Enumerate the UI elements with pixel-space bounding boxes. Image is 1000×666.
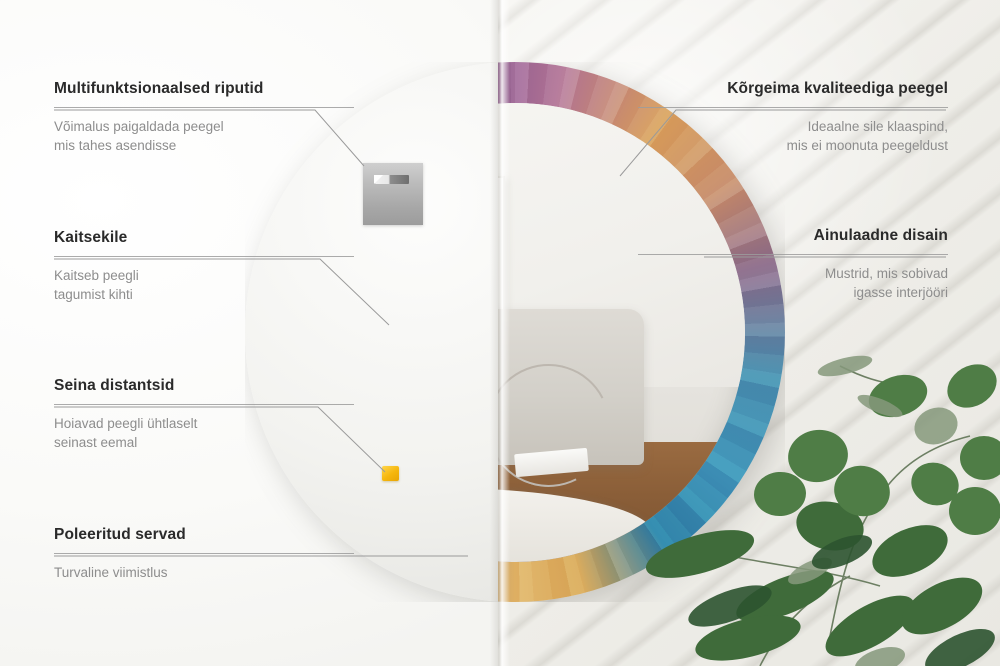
callout-quality-mirror-desc-line2: mis ei moonuta peegeldust: [787, 138, 948, 153]
callout-quality-mirror-title: Kõrgeima kvaliteediga peegel: [638, 80, 948, 98]
callout-quality-mirror-desc-line1: Ideaalne sile klaaspind,: [808, 119, 948, 134]
callout-unique-design-rule: [638, 254, 948, 255]
callout-hangers-desc-line2: mis tahes asendisse: [54, 138, 176, 153]
callout-quality-mirror-desc: Ideaalne sile klaaspind, mis ei moonuta …: [638, 117, 948, 155]
callout-protective-film-rule: [54, 256, 354, 257]
callout-polished-edges-desc: Turvaline viimistlus: [54, 563, 354, 582]
callout-unique-design-desc-line1: Mustrid, mis sobivad: [825, 266, 948, 281]
callout-polished-edges-rule: [54, 553, 354, 554]
callout-protective-film: Kaitsekile Kaitseb peegli tagumist kihti: [54, 229, 354, 304]
callout-polished-edges-desc-line1: Turvaline viimistlus: [54, 565, 168, 580]
callout-quality-mirror: Kõrgeima kvaliteediga peegel Ideaalne si…: [638, 80, 948, 155]
callout-wall-spacers-title: Seina distantsid: [54, 377, 354, 395]
callout-wall-spacers-desc-line2: seinast eemal: [54, 435, 137, 450]
callout-protective-film-desc: Kaitseb peegli tagumist kihti: [54, 266, 354, 304]
callout-unique-design-desc: Mustrid, mis sobivad igasse interjööri: [638, 264, 948, 302]
callout-protective-film-desc-line2: tagumist kihti: [54, 287, 133, 302]
callout-quality-mirror-rule: [638, 107, 948, 108]
callout-unique-design-title: Ainulaadne disain: [638, 227, 948, 245]
callout-hangers: Multifunktsionaalsed riputid Võimalus pa…: [54, 80, 354, 155]
callout-unique-design-desc-line2: igasse interjööri: [853, 285, 948, 300]
callout-unique-design: Ainulaadne disain Mustrid, mis sobivad i…: [638, 227, 948, 302]
hanger-slot: [375, 175, 409, 184]
callout-wall-spacers-desc: Hoiavad peegli ühtlaselt seinast eemal: [54, 414, 354, 452]
callout-hangers-rule: [54, 107, 354, 108]
callout-hangers-desc: Võimalus paigaldada peegel mis tahes ase…: [54, 117, 354, 155]
callout-hangers-desc-line1: Võimalus paigaldada peegel: [54, 119, 224, 134]
callout-polished-edges: Poleeritud servad Turvaline viimistlus: [54, 526, 354, 582]
hanger-plate-icon: [363, 163, 423, 225]
wall-spacer-icon: [382, 466, 399, 481]
callout-polished-edges-title: Poleeritud servad: [54, 526, 354, 544]
callout-protective-film-title: Kaitsekile: [54, 229, 354, 247]
foliage-icon: [580, 306, 1000, 666]
callout-protective-film-desc-line1: Kaitseb peegli: [54, 268, 139, 283]
callout-wall-spacers-rule: [54, 404, 354, 405]
callout-hangers-title: Multifunktsionaalsed riputid: [54, 80, 354, 98]
infographic-page: Multifunktsionaalsed riputid Võimalus pa…: [0, 0, 1000, 666]
callout-wall-spacers: Seina distantsid Hoiavad peegli ühtlasel…: [54, 377, 354, 452]
callout-wall-spacers-desc-line1: Hoiavad peegli ühtlaselt: [54, 416, 197, 431]
